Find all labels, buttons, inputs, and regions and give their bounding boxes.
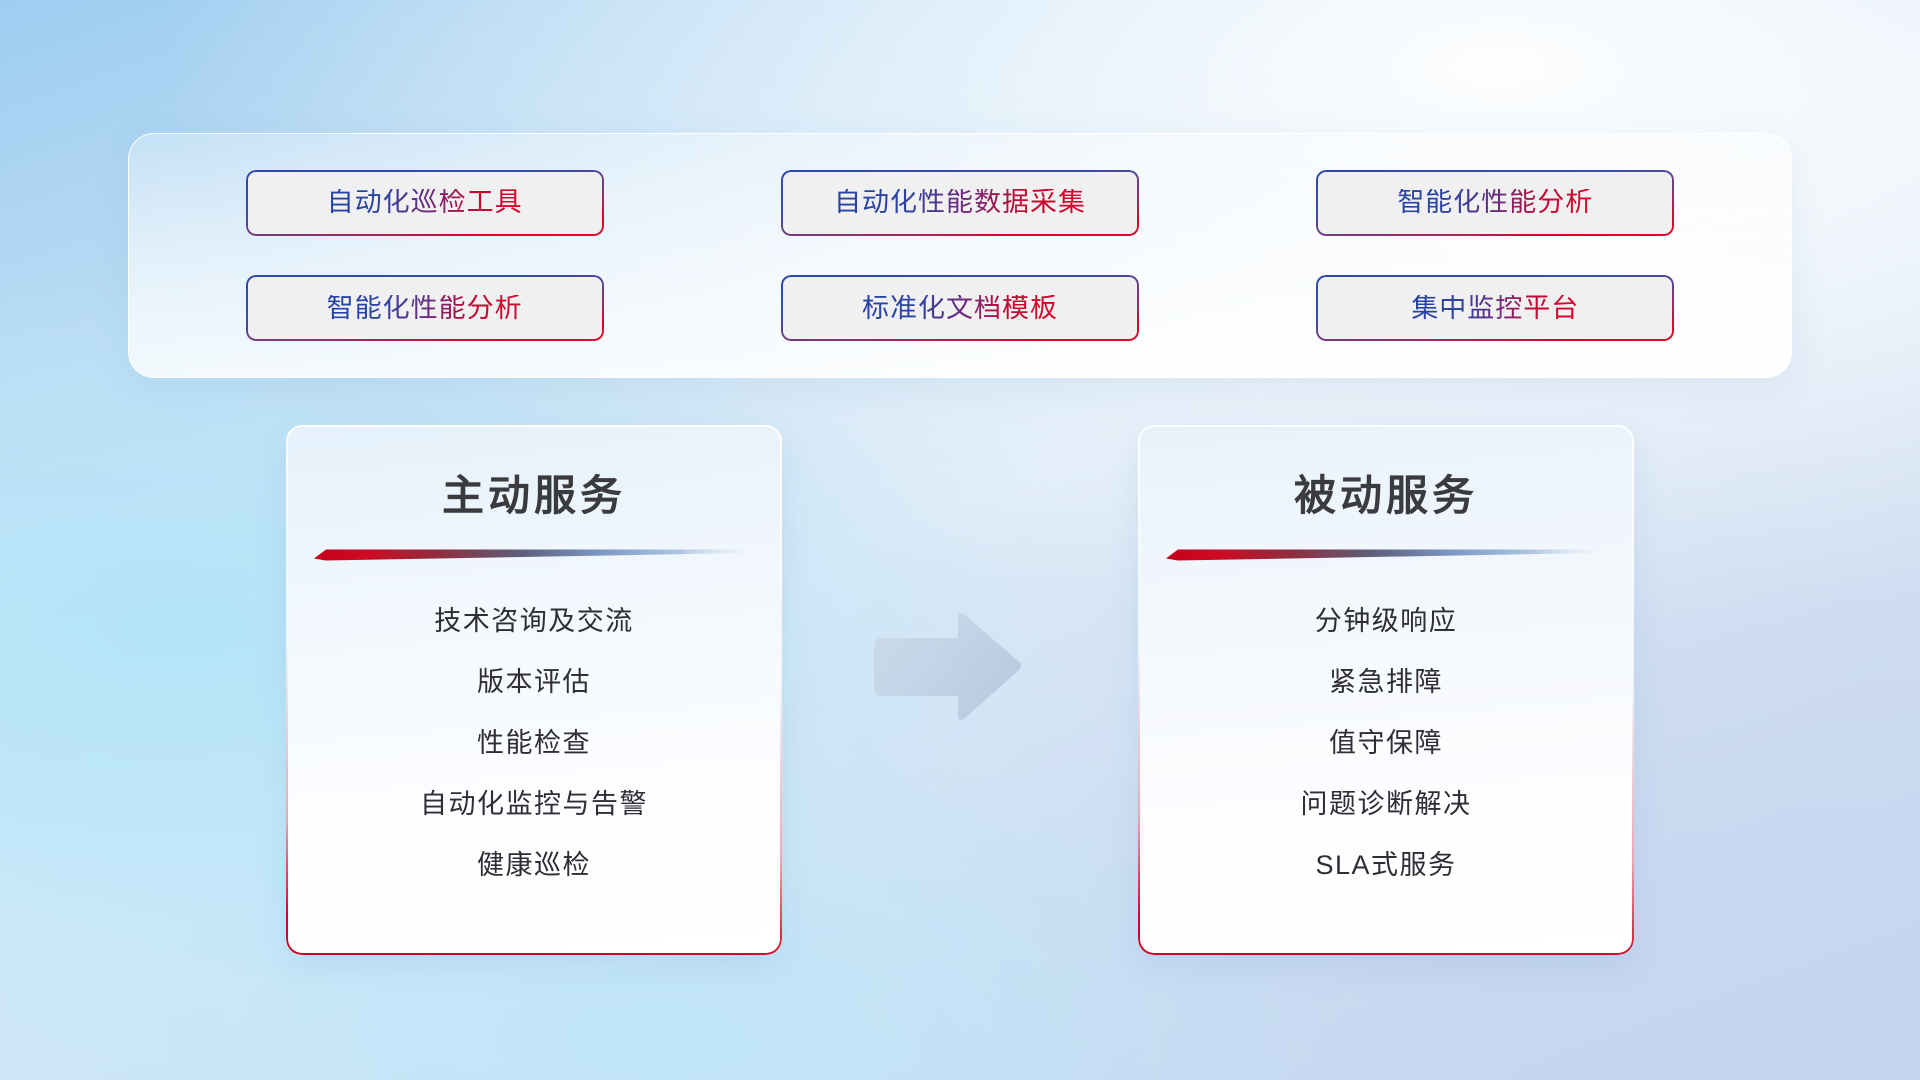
service-list-item: SLA式服务 xyxy=(1172,835,1600,896)
capability-pill-3[interactable]: 智能化性能分析 xyxy=(1316,170,1674,236)
capability-pill-label: 智能化性能分析 xyxy=(1397,189,1593,216)
card-divider-icon xyxy=(1166,547,1596,561)
service-list-item: 值守保障 xyxy=(1172,713,1600,774)
capability-pill-label: 标准化文档模板 xyxy=(862,295,1058,322)
capability-pill-4[interactable]: 智能化性能分析 xyxy=(246,275,604,341)
capability-panel: 自动化巡检工具 自动化性能数据采集 智能化性能分析 智能化性能分析 标准化文档模… xyxy=(128,133,1792,378)
arrow-right-icon xyxy=(866,608,1024,728)
capability-pill-label: 智能化性能分析 xyxy=(327,295,523,322)
service-item-list: 技术咨询及交流 版本评估 性能检查 自动化监控与告警 健康巡检 xyxy=(320,591,748,896)
service-card-proactive: 主动服务 技术咨询及交流 版本评估 xyxy=(286,425,782,955)
service-list-item: 健康巡检 xyxy=(320,835,748,896)
service-list-item: 技术咨询及交流 xyxy=(320,591,748,652)
service-list-item: 自动化监控与告警 xyxy=(320,774,748,835)
capability-pill-2[interactable]: 自动化性能数据采集 xyxy=(781,170,1139,236)
service-item-list: 分钟级响应 紧急排障 值守保障 问题诊断解决 SLA式服务 xyxy=(1172,591,1600,896)
capability-pill-label: 自动化性能数据采集 xyxy=(834,189,1086,216)
capability-pill-1[interactable]: 自动化巡检工具 xyxy=(246,170,604,236)
service-list-item: 问题诊断解决 xyxy=(1172,774,1600,835)
card-title: 被动服务 xyxy=(1172,471,1600,521)
capability-pill-6[interactable]: 集中监控平台 xyxy=(1316,275,1674,341)
service-card-reactive: 被动服务 分钟级响应 紧急排障 xyxy=(1138,425,1634,955)
service-list-item: 版本评估 xyxy=(320,652,748,713)
card-title: 主动服务 xyxy=(320,471,748,521)
card-divider-icon xyxy=(314,547,744,561)
service-list-item: 分钟级响应 xyxy=(1172,591,1600,652)
capability-pill-5[interactable]: 标准化文档模板 xyxy=(781,275,1139,341)
service-list-item: 性能检查 xyxy=(320,713,748,774)
capability-pill-label: 自动化巡检工具 xyxy=(327,189,523,216)
capability-pill-label: 集中监控平台 xyxy=(1411,295,1579,322)
slide-canvas: 自动化巡检工具 自动化性能数据采集 智能化性能分析 智能化性能分析 标准化文档模… xyxy=(0,0,1920,1080)
service-list-item: 紧急排障 xyxy=(1172,652,1600,713)
